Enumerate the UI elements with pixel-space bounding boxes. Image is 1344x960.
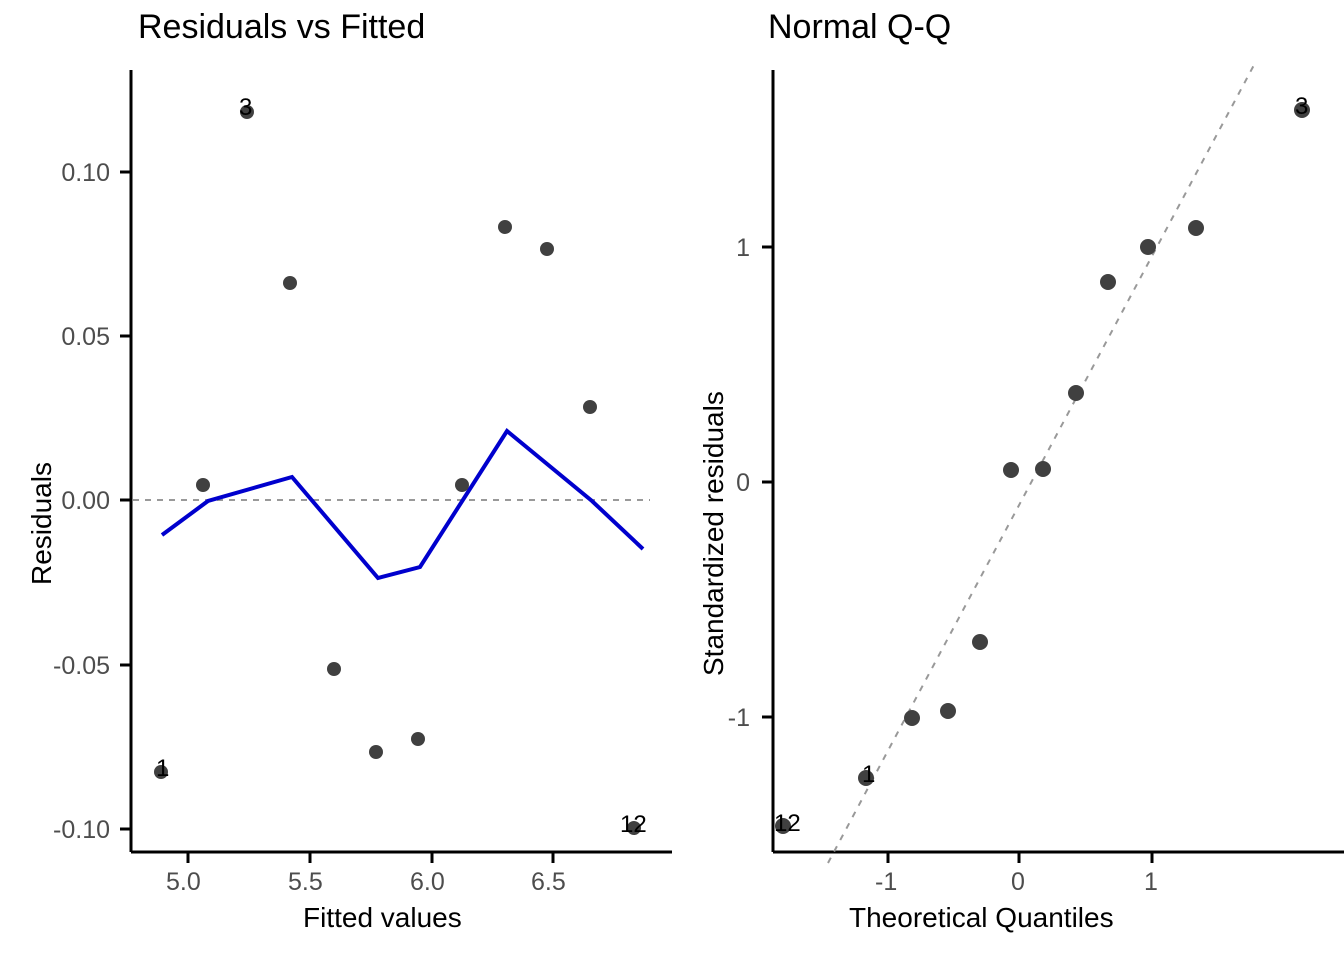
panel-residuals-vs-fitted: Residuals vs Fitted — [0, 0, 672, 960]
x-axis-title-left: Fitted values — [303, 902, 462, 934]
x-tick-label: 0 — [1011, 868, 1025, 897]
outlier-label-1: 1 — [862, 761, 875, 789]
diagnostic-plot-figure: Residuals vs Fitted — [0, 0, 1344, 960]
y-tick-label: 0.05 — [30, 323, 110, 352]
data-point — [196, 478, 210, 492]
data-point — [327, 662, 341, 676]
data-point — [540, 242, 554, 256]
x-tick-marks-right — [888, 852, 1152, 863]
y-tick-label: 0.10 — [30, 159, 110, 188]
y-tick-label: -1 — [690, 704, 750, 733]
outlier-label-12: 12 — [774, 810, 801, 838]
y-tick-label: -0.05 — [22, 652, 110, 681]
y-tick-label: 1 — [698, 234, 750, 263]
x-tick-label: -1 — [875, 868, 897, 897]
scatter-points-right — [775, 102, 1310, 834]
x-tick-label: 6.5 — [531, 868, 566, 897]
data-point — [369, 745, 383, 759]
y-axis-title-right: Standardized residuals — [698, 391, 730, 676]
data-point — [1068, 385, 1084, 401]
outlier-label-3: 3 — [239, 94, 252, 122]
y-tick-label: -0.10 — [22, 816, 110, 845]
data-point — [940, 703, 956, 719]
x-tick-label: 5.0 — [166, 868, 201, 897]
scatter-points-left — [154, 105, 641, 835]
outlier-label-12: 12 — [620, 811, 647, 839]
x-tick-marks-left — [188, 852, 553, 863]
x-tick-label: 5.5 — [288, 868, 323, 897]
x-axis-title-right: Theoretical Quantiles — [849, 902, 1114, 934]
data-point — [411, 732, 425, 746]
panel-normal-qq: Normal Q-Q — [672, 0, 1344, 960]
outlier-label-1: 1 — [156, 755, 169, 783]
data-point — [498, 220, 512, 234]
data-point — [283, 276, 297, 290]
outlier-label-3: 3 — [1295, 93, 1308, 121]
x-tick-label: 6.0 — [410, 868, 445, 897]
data-point — [1003, 462, 1019, 478]
data-point — [1100, 274, 1116, 290]
plot-area-normal-qq — [672, 0, 1344, 960]
data-point — [1140, 239, 1156, 255]
y-axis-title-left: Residuals — [26, 462, 58, 585]
data-point — [1035, 461, 1051, 477]
lowess-smoother-line — [162, 431, 643, 578]
data-point — [1188, 220, 1204, 236]
data-point — [904, 710, 920, 726]
y-tick-marks-right — [762, 247, 773, 717]
data-point — [972, 634, 988, 650]
y-tick-marks-left — [120, 172, 131, 829]
data-point — [583, 400, 597, 414]
data-point — [455, 478, 469, 492]
x-tick-label: 1 — [1144, 868, 1158, 897]
